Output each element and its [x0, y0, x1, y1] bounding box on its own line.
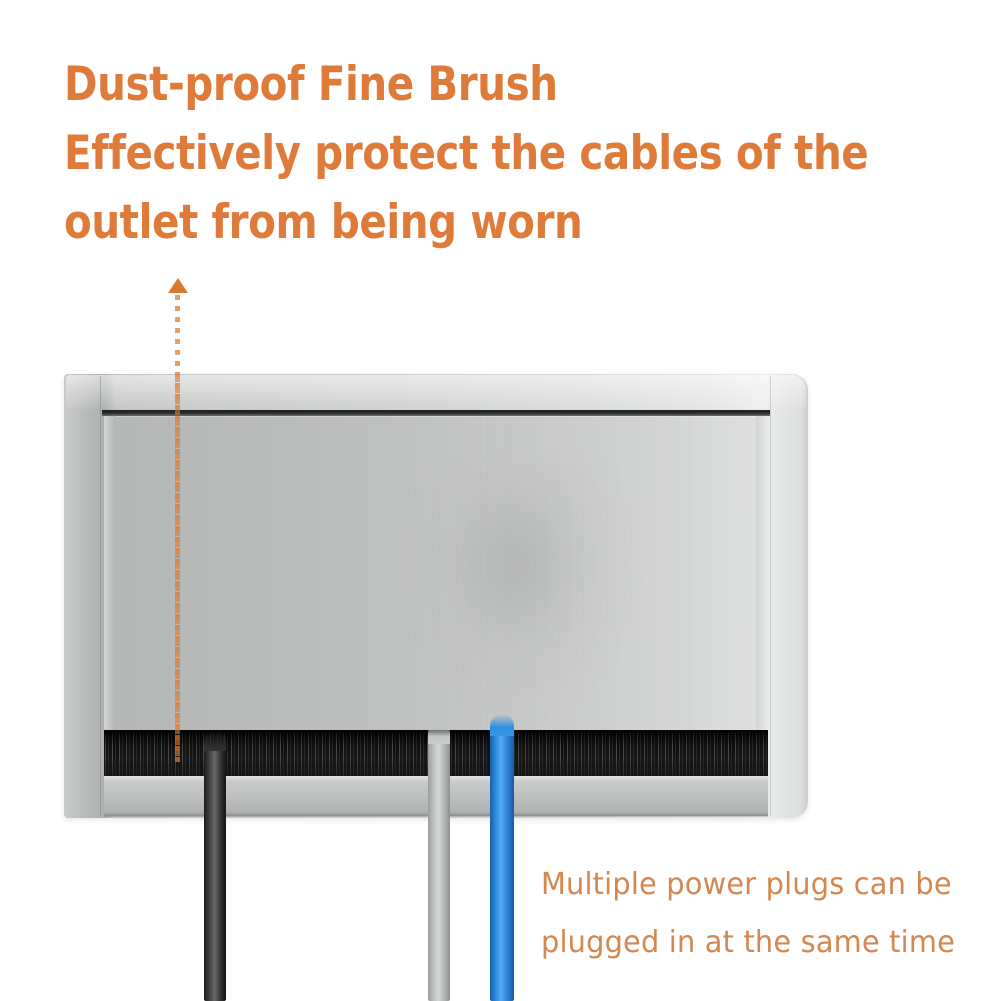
cable-black-tip	[204, 731, 226, 751]
headline-line-1: Dust-proof Fine Brush	[64, 50, 842, 119]
headline: Dust-proof Fine Brush Effectively protec…	[64, 50, 842, 257]
lid-panel	[104, 416, 768, 730]
headline-line-2: Effectively protect the cables of the	[64, 119, 842, 188]
cable-black	[204, 745, 226, 1001]
frame-seam-right	[770, 376, 771, 816]
lid-bezel-right	[756, 416, 768, 730]
frame-seam-left	[100, 376, 101, 816]
caption-line-1: Multiple power plugs can be	[541, 856, 963, 914]
lid-reflection	[404, 464, 634, 714]
product-feature-image: Dust-proof Fine Brush Effectively protec…	[0, 0, 1001, 1001]
caption: Multiple power plugs can be plugged in a…	[541, 856, 963, 972]
cable-blue	[490, 730, 514, 1001]
caption-line-2: plugged in at the same time	[541, 914, 963, 972]
dotted-leader-line-over-product	[175, 377, 180, 762]
cable-gray	[428, 738, 450, 1001]
cable-blue-tip	[490, 714, 514, 736]
headline-line-3: outlet from being worn	[64, 188, 842, 257]
arrow-up-icon	[168, 278, 188, 293]
lid-bezel-left	[104, 416, 116, 730]
callout-arrow	[168, 278, 188, 762]
cable-gray-tip	[428, 722, 450, 744]
